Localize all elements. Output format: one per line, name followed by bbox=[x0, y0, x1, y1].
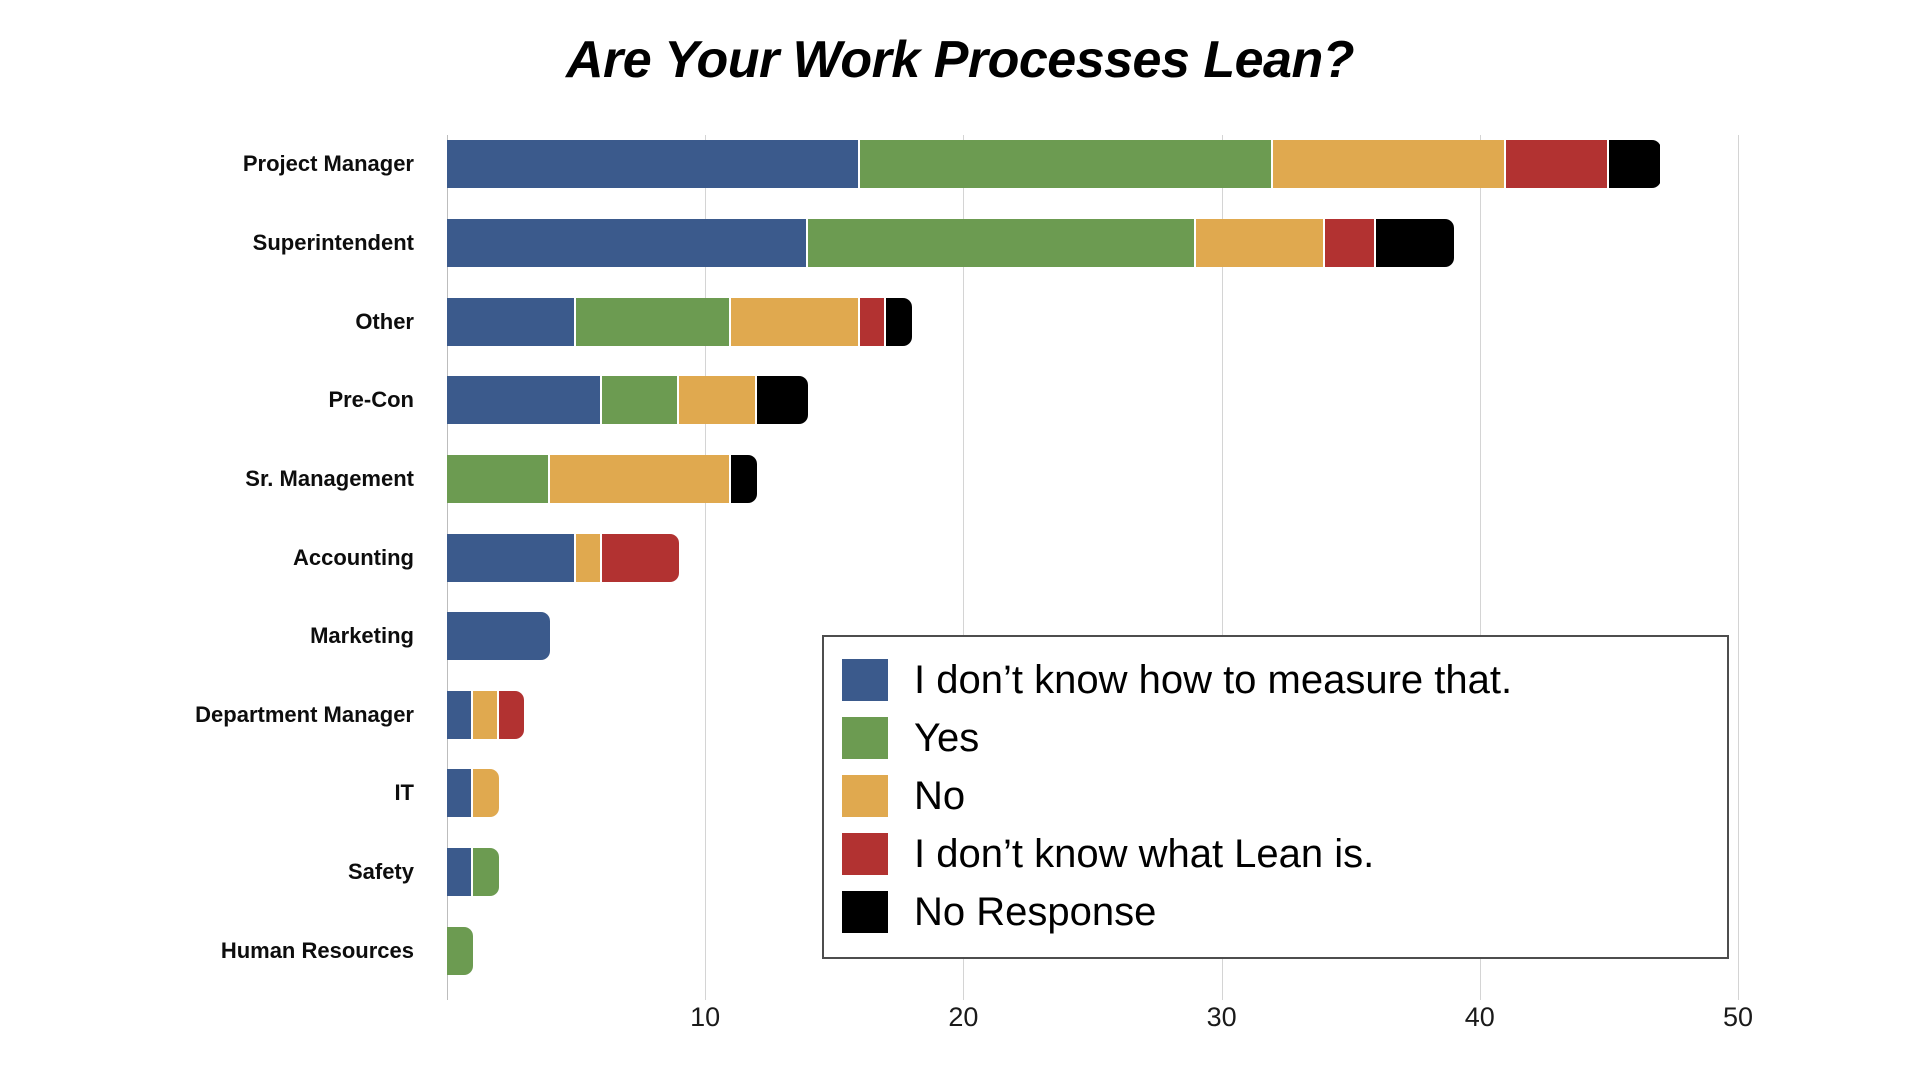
bar-department-manager[interactable] bbox=[447, 691, 524, 739]
bar-segment[interactable] bbox=[1273, 140, 1505, 188]
category-label-marketing: Marketing bbox=[0, 623, 432, 649]
bar-segment[interactable] bbox=[473, 769, 499, 817]
bar-segment[interactable] bbox=[447, 298, 576, 346]
bar-segment[interactable] bbox=[576, 534, 602, 582]
bar-segment[interactable] bbox=[679, 376, 756, 424]
bar-segment[interactable] bbox=[473, 691, 499, 739]
bar-it[interactable] bbox=[447, 769, 499, 817]
legend-swatch-no bbox=[842, 775, 888, 817]
legend-item[interactable]: I don’t know what Lean is. bbox=[842, 825, 1711, 883]
bar-superintendent[interactable] bbox=[447, 219, 1454, 267]
bar-segment[interactable] bbox=[731, 455, 757, 503]
category-axis-labels: Project ManagerSuperintendentOtherPre-Co… bbox=[0, 135, 432, 1000]
bar-segment[interactable] bbox=[602, 376, 679, 424]
bar-segment[interactable] bbox=[447, 376, 602, 424]
legend-swatch-yes bbox=[842, 717, 888, 759]
category-label-project-manager: Project Manager bbox=[0, 151, 432, 177]
x-axis-tick-labels: 1020304050 bbox=[0, 1002, 1920, 1062]
bar-segment[interactable] bbox=[447, 140, 860, 188]
chart-title: Are Your Work Processes Lean? bbox=[0, 30, 1920, 90]
bar-pre-con[interactable] bbox=[447, 376, 808, 424]
category-label-accounting: Accounting bbox=[0, 545, 432, 571]
bar-segment[interactable] bbox=[1609, 140, 1661, 188]
category-label-pre-con: Pre-Con bbox=[0, 387, 432, 413]
bar-segment[interactable] bbox=[860, 298, 886, 346]
bar-segment[interactable] bbox=[731, 298, 860, 346]
bar-marketing[interactable] bbox=[447, 612, 550, 660]
category-label-department-manager: Department Manager bbox=[0, 702, 432, 728]
x-tick-label-50: 50 bbox=[1723, 1002, 1753, 1033]
legend-swatch-dont-know-measure bbox=[842, 659, 888, 701]
bar-human-resources[interactable] bbox=[447, 927, 473, 975]
category-label-it: IT bbox=[0, 780, 432, 806]
legend-swatch-no-response bbox=[842, 891, 888, 933]
gridline-50 bbox=[1738, 135, 1739, 1000]
bar-segment[interactable] bbox=[1325, 219, 1377, 267]
x-tick-label-20: 20 bbox=[948, 1002, 978, 1033]
legend-label: I don’t know what Lean is. bbox=[914, 834, 1374, 874]
chart-legend: I don’t know how to measure that.YesNoI … bbox=[822, 635, 1729, 959]
bar-segment[interactable] bbox=[447, 219, 808, 267]
bar-segment[interactable] bbox=[757, 376, 809, 424]
legend-label: I don’t know how to measure that. bbox=[914, 660, 1512, 700]
bar-segment[interactable] bbox=[447, 534, 576, 582]
legend-item[interactable]: No Response bbox=[842, 883, 1711, 941]
bar-safety[interactable] bbox=[447, 848, 499, 896]
legend-label: No Response bbox=[914, 892, 1156, 932]
category-label-sr-management: Sr. Management bbox=[0, 466, 432, 492]
x-tick-label-40: 40 bbox=[1465, 1002, 1495, 1033]
bar-segment[interactable] bbox=[550, 455, 731, 503]
category-label-human-resources: Human Resources bbox=[0, 938, 432, 964]
legend-label: No bbox=[914, 776, 965, 816]
bar-sr-management[interactable] bbox=[447, 455, 757, 503]
bar-segment[interactable] bbox=[447, 927, 473, 975]
bar-segment[interactable] bbox=[447, 612, 550, 660]
x-tick-label-30: 30 bbox=[1207, 1002, 1237, 1033]
x-tick-label-10: 10 bbox=[690, 1002, 720, 1033]
bar-segment[interactable] bbox=[473, 848, 499, 896]
category-label-safety: Safety bbox=[0, 859, 432, 885]
bar-segment[interactable] bbox=[499, 691, 525, 739]
bar-accounting[interactable] bbox=[447, 534, 679, 582]
legend-swatch-dont-know-lean bbox=[842, 833, 888, 875]
category-label-other: Other bbox=[0, 309, 432, 335]
legend-item[interactable]: I don’t know how to measure that. bbox=[842, 651, 1711, 709]
bar-segment[interactable] bbox=[808, 219, 1195, 267]
bar-segment[interactable] bbox=[886, 298, 912, 346]
bar-segment[interactable] bbox=[447, 848, 473, 896]
bar-other[interactable] bbox=[447, 298, 912, 346]
bar-segment[interactable] bbox=[447, 455, 550, 503]
bar-segment[interactable] bbox=[1506, 140, 1609, 188]
stacked-bar-chart: Are Your Work Processes Lean? Project Ma… bbox=[0, 0, 1920, 1080]
bar-segment[interactable] bbox=[447, 769, 473, 817]
legend-item[interactable]: No bbox=[842, 767, 1711, 825]
legend-item[interactable]: Yes bbox=[842, 709, 1711, 767]
category-label-superintendent: Superintendent bbox=[0, 230, 432, 256]
bar-segment[interactable] bbox=[1376, 219, 1453, 267]
legend-label: Yes bbox=[914, 718, 979, 758]
bar-segment[interactable] bbox=[447, 691, 473, 739]
bar-segment[interactable] bbox=[1196, 219, 1325, 267]
bar-segment[interactable] bbox=[602, 534, 679, 582]
bar-project-manager[interactable] bbox=[447, 140, 1661, 188]
bar-segment[interactable] bbox=[860, 140, 1273, 188]
bar-segment[interactable] bbox=[576, 298, 731, 346]
